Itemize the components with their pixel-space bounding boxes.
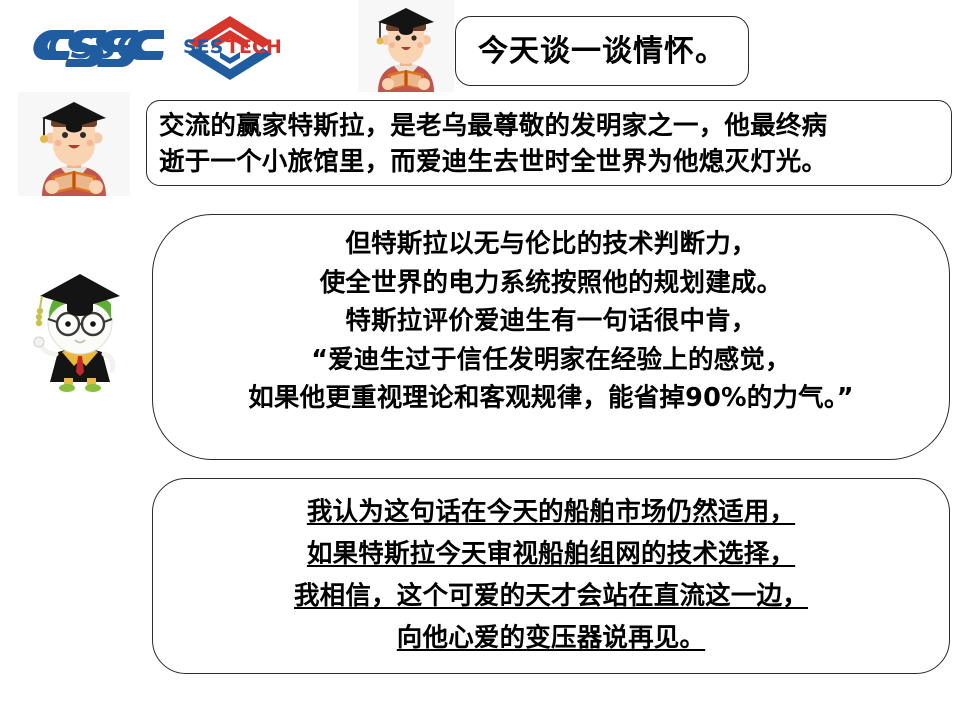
- sestech-logo: SES TECH: [174, 8, 286, 86]
- quote-line-4: “爱迪生过于信任发明家在经验上的感觉，: [153, 341, 949, 380]
- cssc-logo: CSSC: [24, 22, 164, 68]
- quote-line-3: 特斯拉评价爱迪生有一句话很中肯，: [153, 302, 949, 341]
- graduate-avatar-icon-top: [358, 0, 454, 92]
- conclusion-line-2: 如果特斯拉今天审视船舶组网的技术选择，: [153, 533, 949, 575]
- quote-line-1: 但特斯拉以无与伦比的技术判断力，: [153, 225, 949, 264]
- graduate-avatar-icon-left: [18, 92, 130, 196]
- callout-box-conclusion: 我认为这句话在今天的船舶市场仍然适用， 如果特斯拉今天审视船舶组网的技术选择， …: [152, 478, 950, 674]
- title-line-1: 今天谈一谈情怀。: [478, 35, 726, 68]
- callout-box-intro: 交流的赢家特斯拉，是老乌最尊敬的发明家之一，他最终病 逝于一个小旅馆里，而爱迪生…: [146, 100, 952, 186]
- quote-line-5: 如果他更重视理论和客观规律，能省掉90%的力气。”: [153, 379, 949, 418]
- intro-line-2: 逝于一个小旅馆里，而爱迪生去世时全世界为他熄灭灯光。: [159, 144, 939, 180]
- sestech-logo-text-left: SES: [183, 36, 223, 58]
- conclusion-line-1: 我认为这句话在今天的船舶市场仍然适用，: [153, 491, 949, 533]
- green-mascot-avatar-icon: [18, 256, 142, 392]
- intro-line-1: 交流的赢家特斯拉，是老乌最尊敬的发明家之一，他最终病: [159, 108, 939, 144]
- conclusion-line-4: 向他心爱的变压器说再见。: [153, 617, 949, 659]
- slide-canvas: CSSC SES TECH: [0, 0, 960, 720]
- cssc-logo-text: CSSC: [48, 27, 142, 67]
- callout-box-title: 今天谈一谈情怀。: [455, 16, 749, 86]
- conclusion-line-3: 我相信，这个可爱的天才会站在直流这一边，: [153, 575, 949, 617]
- callout-box-quote: 但特斯拉以无与伦比的技术判断力， 使全世界的电力系统按照他的规划建成。 特斯拉评…: [152, 214, 950, 460]
- quote-line-2: 使全世界的电力系统按照他的规划建成。: [153, 264, 949, 303]
- sestech-logo-text-right: TECH: [226, 36, 282, 58]
